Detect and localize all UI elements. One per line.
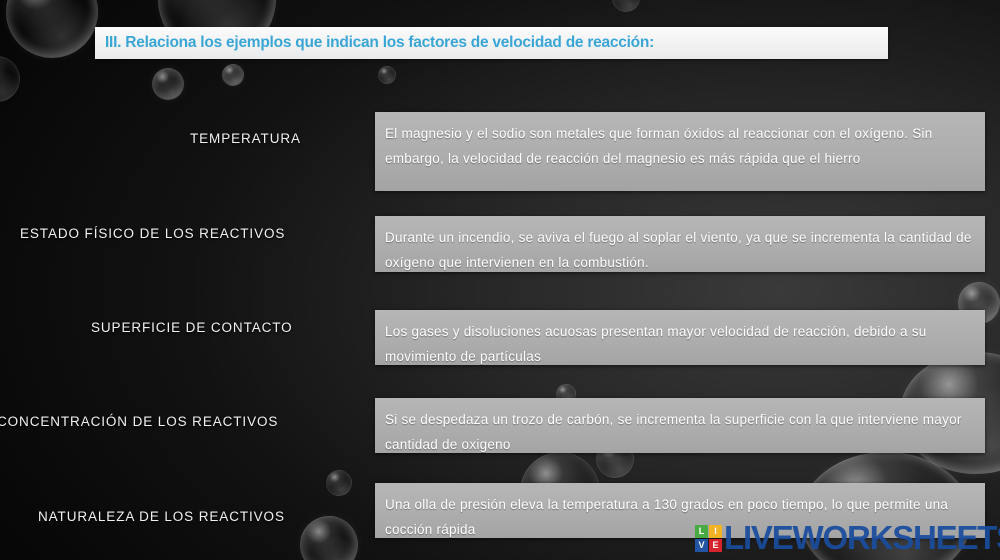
factor-label-superficie-de-contacto: SUPERFICIE DE CONTACTO: [91, 320, 293, 335]
bubble-icon: [326, 470, 352, 496]
bubble-icon: [222, 64, 244, 86]
example-text: El magnesio y el sodio son metales que f…: [385, 121, 973, 171]
example-text: Durante un incendio, se aviva el fuego a…: [385, 225, 973, 275]
example-box-1[interactable]: El magnesio y el sodio son metales que f…: [375, 112, 985, 191]
example-text: Si se despedaza un trozo de carbón, se i…: [385, 407, 973, 457]
example-box-5[interactable]: Una olla de presión eleva la temperatura…: [375, 483, 985, 538]
bubble-icon: [152, 68, 184, 100]
slide-canvas: III. Relaciona los ejemplos que indican …: [0, 0, 1000, 560]
bubble-icon: [612, 0, 640, 12]
bubble-icon: [300, 516, 358, 560]
bubble-icon: [6, 0, 98, 58]
example-box-2[interactable]: Durante un incendio, se aviva el fuego a…: [375, 216, 985, 272]
factor-label-estado-fisico: ESTADO FÍSICO DE LOS REACTIVOS: [20, 226, 285, 241]
factor-label-temperatura: TEMPERATURA: [190, 131, 301, 146]
example-box-3[interactable]: Los gases y disoluciones acuosas present…: [375, 310, 985, 365]
bubble-icon: [0, 56, 20, 102]
bubble-icon: [378, 66, 396, 84]
page-title: III. Relaciona los ejemplos que indican …: [105, 34, 654, 52]
example-text: Una olla de presión eleva la temperatura…: [385, 492, 973, 542]
slide-title-banner: III. Relaciona los ejemplos que indican …: [95, 27, 888, 59]
bubble-decoration-layer: [0, 0, 1000, 560]
example-box-4[interactable]: Si se despedaza un trozo de carbón, se i…: [375, 398, 985, 453]
factor-label-concentracion: CONCENTRACIÓN DE LOS REACTIVOS: [0, 414, 278, 429]
example-text: Los gases y disoluciones acuosas present…: [385, 319, 973, 369]
factor-label-naturaleza: NATURALEZA DE LOS REACTIVOS: [38, 509, 285, 524]
